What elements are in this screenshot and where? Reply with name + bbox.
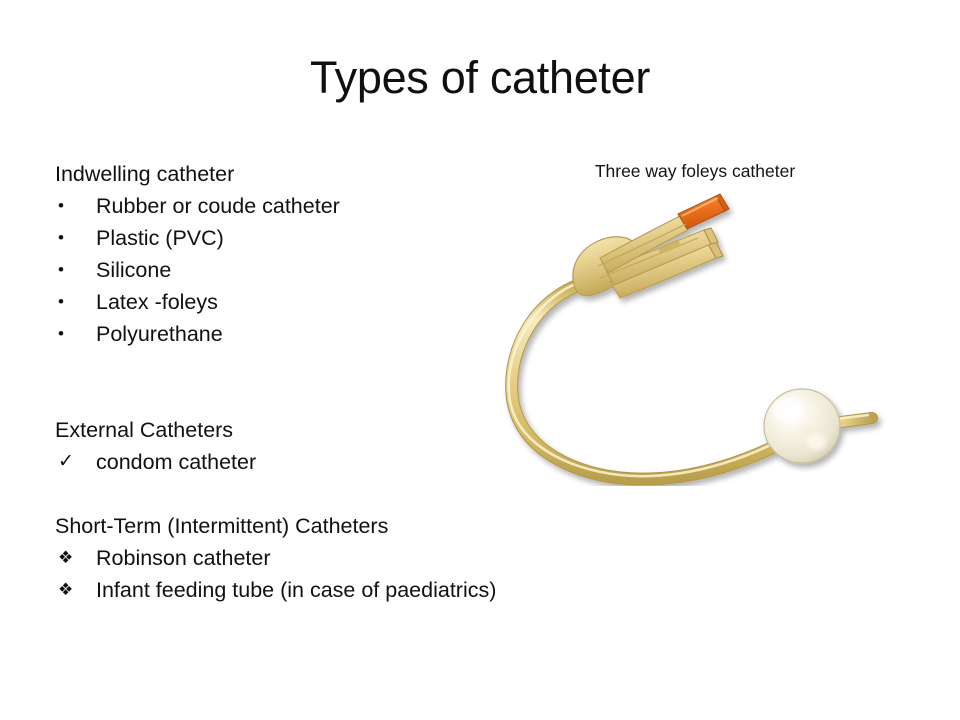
catheter-body: [509, 194, 872, 479]
bullet-dot-icon: •: [58, 222, 84, 254]
bullet-list-short-term: ❖ Robinson catheter ❖ Infant feeding tub…: [55, 542, 575, 606]
balloon-highlight-tertiary: [799, 424, 813, 436]
bullet-diamond-icon: ❖: [58, 574, 84, 606]
slide: Types of catheter Indwelling catheter • …: [0, 0, 960, 720]
list-item: ❖ Infant feeding tube (in case of paedia…: [55, 574, 575, 606]
bullet-dot-icon: •: [58, 254, 84, 286]
list-item-label: Silicone: [96, 258, 171, 282]
catheter-shaft-highlight: [509, 281, 809, 476]
list-item-label: Robinson catheter: [96, 546, 271, 570]
list-item-label: Polyurethane: [96, 322, 223, 346]
group-short-term: Short-Term (Intermittent) Catheters ❖ Ro…: [55, 510, 575, 606]
bullet-dot-icon: •: [58, 318, 84, 350]
figure-three-way-foley: Three way foleys catheter: [480, 160, 910, 490]
bullet-diamond-icon: ❖: [58, 542, 84, 574]
list-item-label: condom catheter: [96, 450, 256, 474]
figure-caption: Three way foleys catheter: [480, 160, 910, 182]
list-item-label: Plastic (PVC): [96, 226, 224, 250]
catheter-illustration: [480, 186, 910, 486]
list-item-label: Latex -foleys: [96, 290, 218, 314]
catheter-shaft-fill: [512, 284, 810, 479]
bullet-dot-icon: •: [58, 286, 84, 318]
list-item: ❖ Robinson catheter: [55, 542, 575, 574]
page-title: Types of catheter: [0, 52, 960, 104]
list-item-label: Infant feeding tube (in case of paediatr…: [96, 578, 496, 602]
group-heading-short-term: Short-Term (Intermittent) Catheters: [55, 510, 575, 542]
balloon-highlight-primary: [773, 398, 803, 422]
bullet-check-icon: ✓: [58, 446, 84, 478]
bullet-dot-icon: •: [58, 190, 84, 222]
list-item-label: Rubber or coude catheter: [96, 194, 340, 218]
balloon-highlight-secondary: [806, 434, 826, 450]
